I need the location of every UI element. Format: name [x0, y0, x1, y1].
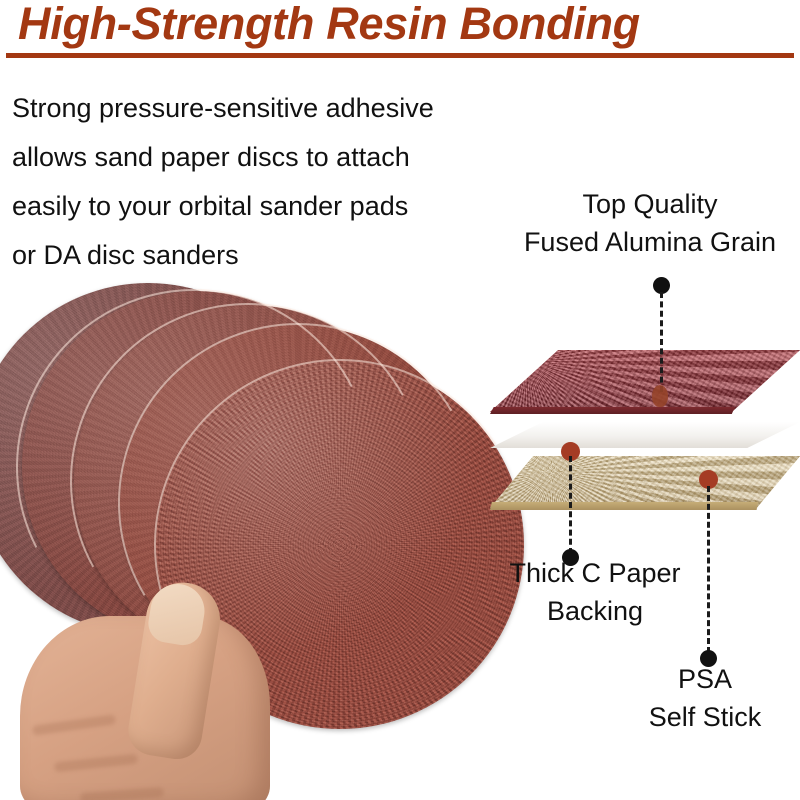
grain-layer: [490, 350, 800, 412]
callout-target-dot-grain: [652, 385, 668, 407]
callout-label-psa-line-1: PSA: [610, 660, 800, 698]
description-line-4: or DA disc sanders: [12, 231, 512, 280]
callout-line-psa: [707, 486, 710, 653]
backing-layer-edge: [490, 502, 800, 510]
callout-label-grain-line-1: Top Quality: [500, 185, 800, 223]
callout-label-paper-line-1: Thick C Paper: [480, 554, 710, 592]
title-block: High-Strength Resin Bonding: [0, 0, 800, 62]
grain-layer-edge: [490, 407, 800, 414]
callout-label-psa: PSA Self Stick: [610, 660, 800, 736]
callout-label-paper: Thick C Paper Backing: [480, 554, 710, 630]
callout-label-grain: Top Quality Fused Alumina Grain: [500, 185, 800, 261]
exploded-layer-diagram: [490, 350, 800, 530]
description-line-3: easily to your orbital sander pads: [12, 182, 512, 231]
backing-layer: [490, 456, 800, 508]
callout-line-grain: [660, 292, 663, 392]
description-paragraph: Strong pressure-sensitive adhesive allow…: [12, 84, 512, 280]
product-infographic: High-Strength Resin Bonding Strong press…: [0, 0, 800, 800]
description-line-1: Strong pressure-sensitive adhesive: [12, 84, 512, 133]
title-underline-rule: [6, 53, 794, 58]
callout-label-grain-line-2: Fused Alumina Grain: [500, 223, 800, 261]
adhesive-layer: [490, 422, 800, 448]
page-title: High-Strength Resin Bonding: [18, 0, 788, 50]
callout-label-paper-line-2: Backing: [480, 592, 710, 630]
description-line-2: allows sand paper discs to attach: [12, 133, 512, 182]
callout-line-paper: [569, 456, 572, 554]
hand-holding-discs: [20, 580, 320, 800]
callout-label-psa-line-2: Self Stick: [610, 698, 800, 736]
